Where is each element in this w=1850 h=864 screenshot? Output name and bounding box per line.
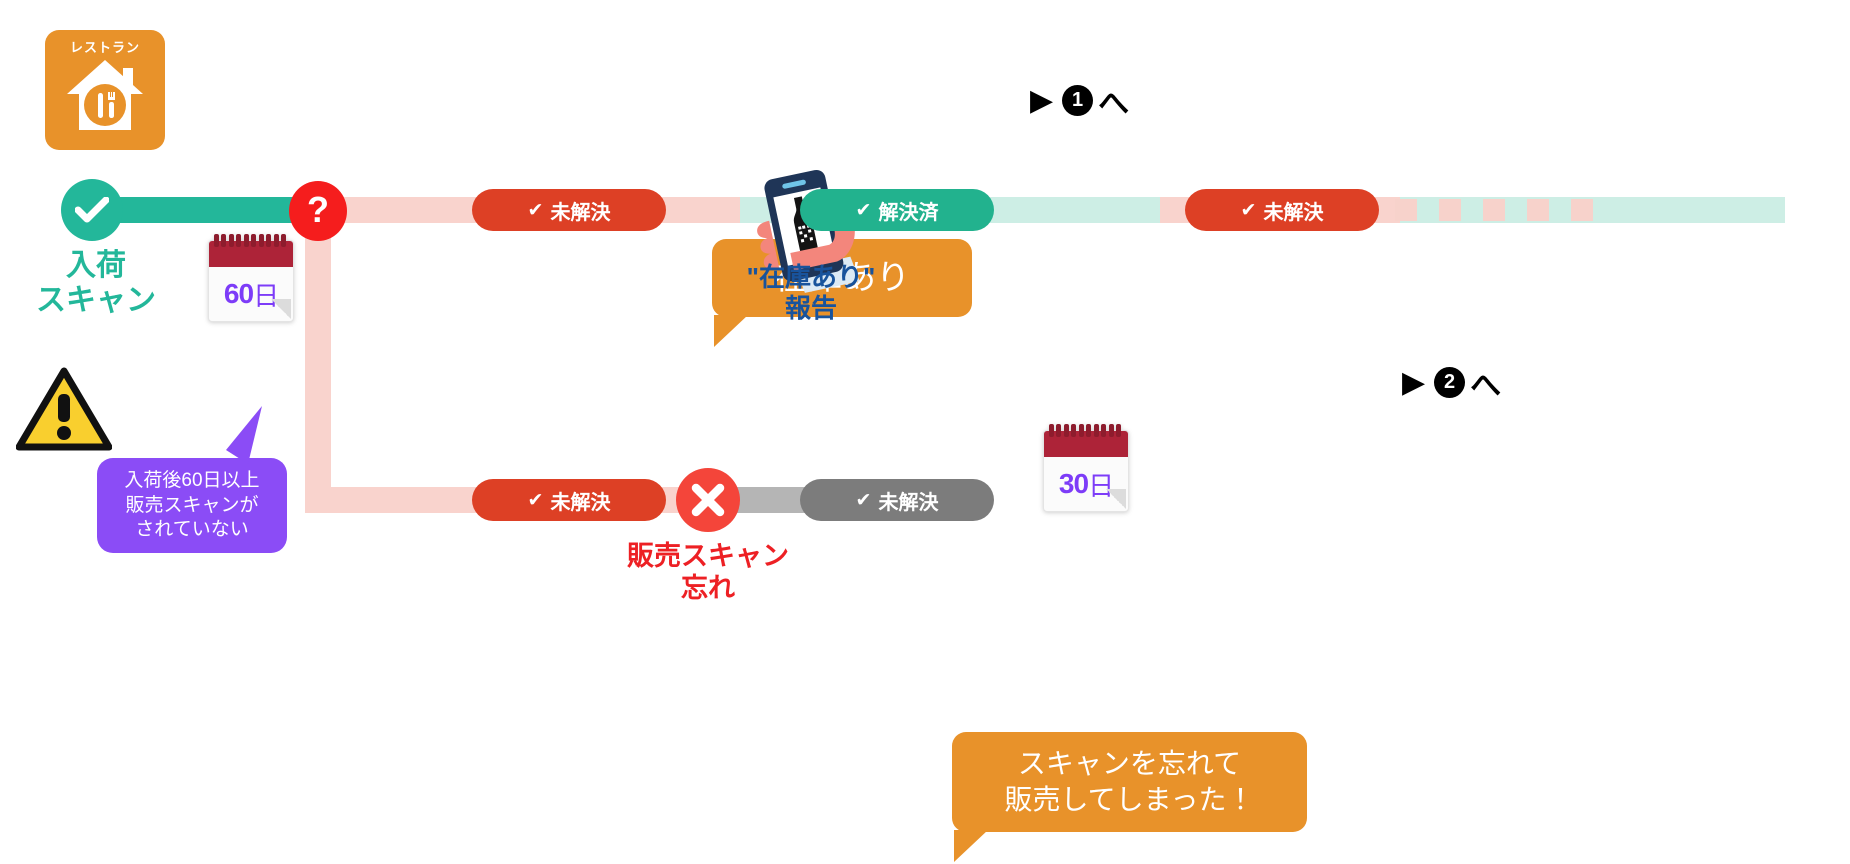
warning-triangle-icon <box>16 367 112 456</box>
triangle-right-icon: ▶ <box>1030 83 1053 118</box>
status-pill-label: 未解決 <box>550 486 610 515</box>
check-circle-icon <box>61 179 123 241</box>
restaurant-house-icon <box>61 56 149 143</box>
triangle-right-icon: ▶ <box>1402 365 1425 400</box>
goto-1-suffix: へ <box>1098 78 1129 123</box>
question-mark-symbol: ? <box>307 192 329 228</box>
calendar-30-days: 30日 <box>1043 424 1127 510</box>
check-tick-icon: ✔ <box>856 199 872 222</box>
forgot-scan-speech-bubble: スキャンを忘れて 販売してしまった！ <box>952 732 1307 832</box>
calendar-60-number: 60 <box>224 278 253 310</box>
dash-2 <box>1439 199 1461 221</box>
check-tick-icon: ✔ <box>528 489 544 512</box>
rail-segment-vertical <box>305 197 331 500</box>
status-pill-unresolved-bottom: ✔ 未解決 <box>472 479 666 521</box>
flow-diagram-canvas: レストラン 入荷 スキャン 60日 <box>0 0 1850 756</box>
forgot-scan-bubble-tail <box>954 830 994 864</box>
trailing-dashes <box>1395 199 1593 221</box>
dash-5 <box>1571 199 1593 221</box>
check-tick-icon: ✔ <box>856 489 872 512</box>
phone-scan-caption: "在庫あり" 報告 <box>616 262 1006 323</box>
x-circle-icon <box>676 468 740 532</box>
status-pill-unresolved-gray: ✔ 未解決 <box>800 479 994 521</box>
status-pill-label: 未解決 <box>550 196 610 225</box>
status-pill-unresolved-top-1: ✔ 未解決 <box>472 189 666 231</box>
dash-1 <box>1395 199 1417 221</box>
question-mark-icon: ? <box>289 181 347 241</box>
warning-speech-bubble: 入荷後60日以上 販売スキャンが されていない <box>97 458 287 553</box>
goto-branch-2: ▶ 2 へ <box>1402 360 1501 405</box>
restaurant-tile: レストラン <box>45 30 165 150</box>
start-node-label: 入荷 スキャン <box>6 248 186 319</box>
check-tick-icon: ✔ <box>1241 199 1257 222</box>
goto-2-number: 2 <box>1434 367 1465 398</box>
warning-bubble-tail <box>222 406 264 466</box>
forgot-scan-caption: 販売スキャン 忘れ <box>560 541 856 605</box>
status-pill-label: 解決済 <box>878 196 938 225</box>
goto-1-number: 1 <box>1062 85 1093 116</box>
check-tick-icon: ✔ <box>528 199 544 222</box>
dash-4 <box>1527 199 1549 221</box>
forgot-scan-bubble-text: スキャンを忘れて 販売してしまった！ <box>952 732 1307 819</box>
restaurant-tile-label: レストラン <box>70 41 140 54</box>
goto-branch-1: ▶ 1 へ <box>1030 78 1129 123</box>
goto-2-suffix: へ <box>1470 360 1501 405</box>
status-pill-resolved: ✔ 解決済 <box>800 189 994 231</box>
calendar-30-number: 30 <box>1059 468 1088 500</box>
status-pill-label: 未解決 <box>878 486 938 515</box>
calendar-60-days: 60日 <box>208 234 292 320</box>
status-pill-unresolved-top-2: ✔ 未解決 <box>1185 189 1379 231</box>
rail-segment-green <box>92 197 322 223</box>
dash-3 <box>1483 199 1505 221</box>
status-pill-label: 未解決 <box>1263 196 1323 225</box>
warning-bubble-text: 入荷後60日以上 販売スキャンが されていない <box>97 458 287 543</box>
